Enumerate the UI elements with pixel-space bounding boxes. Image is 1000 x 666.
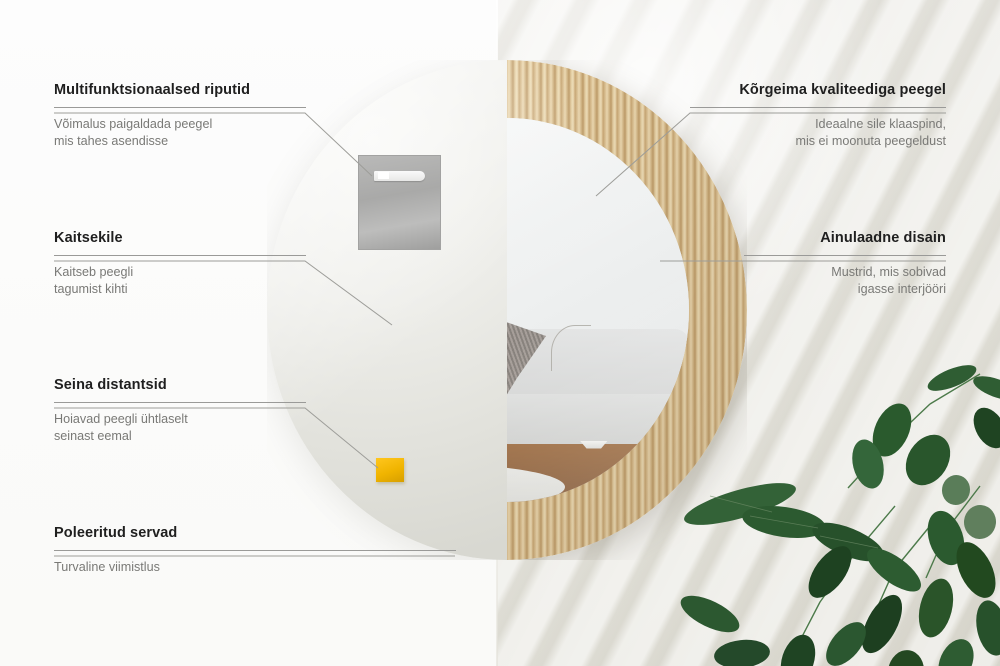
callout-mirror-quality: Kõrgeima kvaliteediga peegel Ideaalne si… <box>690 82 946 150</box>
callout-title: Kõrgeima kvaliteediga peegel <box>690 82 946 98</box>
callout-description: Hoiavad peegli ühtlaselt seinast eemal <box>54 411 306 445</box>
decorative-plant <box>680 356 1000 666</box>
callout-description: Võimalus paigaldada peegel mis tahes ase… <box>54 116 306 150</box>
round-mirror-product <box>267 60 747 560</box>
wall-spacer <box>376 458 404 482</box>
hanger-slot <box>374 171 426 181</box>
callout-title: Seina distantsid <box>54 377 306 393</box>
callout-rule <box>54 107 306 108</box>
callout-rule <box>690 107 946 108</box>
callout-protective-film: Kaitsekile Kaitseb peegli tagumist kihti <box>54 230 306 298</box>
callout-description: Mustrid, mis sobivad igasse interjööri <box>744 264 946 298</box>
callout-unique-design: Ainulaadne disain Mustrid, mis sobivad i… <box>744 230 946 298</box>
callout-polished-edges: Poleeritud servad Turvaline viimistlus <box>54 525 456 576</box>
callout-description: Turvaline viimistlus <box>54 559 456 576</box>
callout-title: Kaitsekile <box>54 230 306 246</box>
infographic-canvas: Multifunktsionaalsed riputid Võimalus pa… <box>0 0 1000 666</box>
callout-rule <box>54 550 456 551</box>
callout-rule <box>744 255 946 256</box>
callout-title: Poleeritud servad <box>54 525 456 541</box>
hanger-plate <box>358 155 441 250</box>
callout-hanger: Multifunktsionaalsed riputid Võimalus pa… <box>54 82 306 150</box>
callout-description: Kaitseb peegli tagumist kihti <box>54 264 306 298</box>
callout-wall-spacers: Seina distantsid Hoiavad peegli ühtlasel… <box>54 377 306 445</box>
callout-rule <box>54 402 306 403</box>
callout-description: Ideaalne sile klaaspind, mis ei moonuta … <box>690 116 946 150</box>
callout-rule <box>54 255 306 256</box>
callout-title: Multifunktsionaalsed riputid <box>54 82 306 98</box>
callout-title: Ainulaadne disain <box>744 230 946 246</box>
